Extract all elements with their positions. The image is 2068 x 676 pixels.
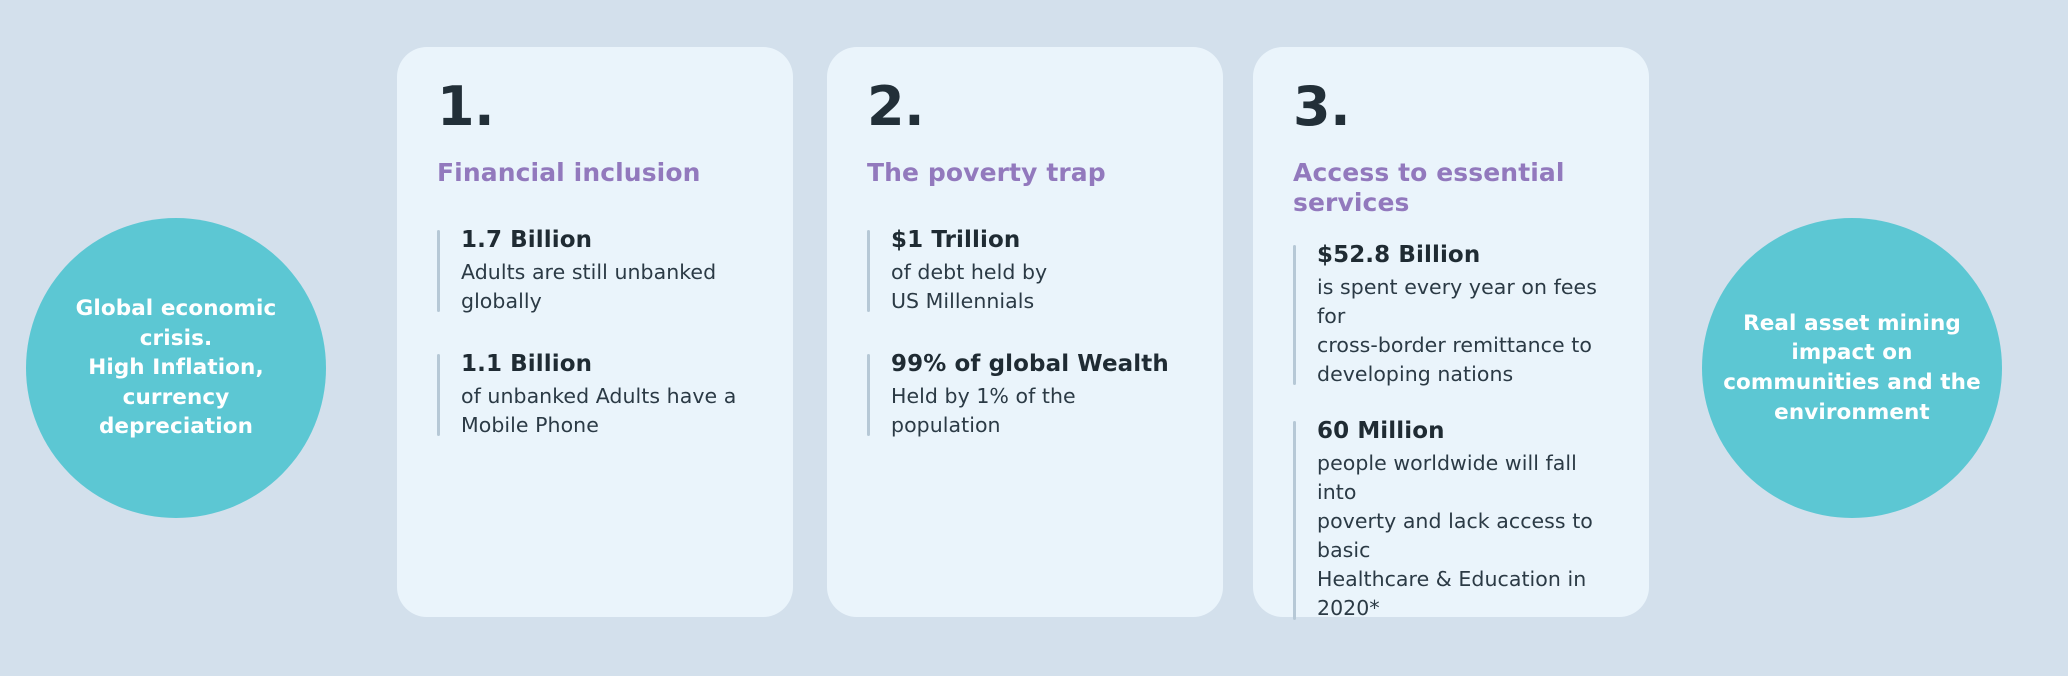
card-2-stat-1-headline: $1 Trillion xyxy=(891,226,1183,256)
stat-accent-rule-icon xyxy=(437,354,440,436)
card-2-stat-2-headline: 99% of global Wealth xyxy=(891,350,1183,380)
stat-card-3: 3. Access to essential services $52.8 Bi… xyxy=(1253,47,1649,617)
card-1-stat-2: 1.1 Billion of unbanked Adults have a Mo… xyxy=(437,350,753,440)
stat-card-2: 2. The poverty trap $1 Trillion of debt … xyxy=(827,47,1223,617)
card-2-stat-list: $1 Trillion of debt held by US Millennia… xyxy=(867,226,1183,440)
left-context-circle-text: Global economic crisis. High Inflation, … xyxy=(64,294,289,442)
card-2-stat-1-body: of debt held by US Millennials xyxy=(891,258,1183,316)
card-1-stat-list: 1.7 Billion Adults are still unbanked gl… xyxy=(437,226,753,440)
card-3-stat-2-headline: 60 Million xyxy=(1317,417,1609,447)
card-3-stat-1-body: is spent every year on fees for cross-bo… xyxy=(1317,273,1609,389)
stat-card-1: 1. Financial inclusion 1.7 Billion Adult… xyxy=(397,47,793,617)
card-3-stat-list: $52.8 Billion is spent every year on fee… xyxy=(1293,241,1609,624)
right-context-circle: Real asset mining impact on communities … xyxy=(1702,218,2002,518)
card-1-stat-1-headline: 1.7 Billion xyxy=(461,226,753,256)
card-1-stat-2-headline: 1.1 Billion xyxy=(461,350,753,380)
infographic-canvas: Global economic crisis. High Inflation, … xyxy=(0,0,2068,676)
stat-accent-rule-icon xyxy=(1293,421,1296,620)
card-2-stat-2-body: Held by 1% of the population xyxy=(891,382,1183,440)
stat-accent-rule-icon xyxy=(1293,245,1296,385)
card-3-number: 3. xyxy=(1293,79,1609,136)
card-2-title: The poverty trap xyxy=(867,158,1183,190)
card-3-stat-2: 60 Million people worldwide will fall in… xyxy=(1293,417,1609,624)
card-2-number: 2. xyxy=(867,79,1183,136)
stat-accent-rule-icon xyxy=(867,230,870,312)
stat-accent-rule-icon xyxy=(867,354,870,436)
card-3-stat-1-headline: $52.8 Billion xyxy=(1317,241,1609,271)
card-3-title: Access to essential services xyxy=(1293,158,1609,219)
left-context-circle: Global economic crisis. High Inflation, … xyxy=(26,218,326,518)
card-2-stat-1: $1 Trillion of debt held by US Millennia… xyxy=(867,226,1183,316)
right-context-circle-text: Real asset mining impact on communities … xyxy=(1711,309,1993,428)
card-3-stat-2-body: people worldwide will fall into poverty … xyxy=(1317,449,1609,624)
card-2-stat-2: 99% of global Wealth Held by 1% of the p… xyxy=(867,350,1183,440)
card-3-stat-1: $52.8 Billion is spent every year on fee… xyxy=(1293,241,1609,389)
card-1-stat-2-body: of unbanked Adults have a Mobile Phone xyxy=(461,382,753,440)
card-1-number: 1. xyxy=(437,79,753,136)
card-1-stat-1: 1.7 Billion Adults are still unbanked gl… xyxy=(437,226,753,316)
card-1-stat-1-body: Adults are still unbanked globally xyxy=(461,258,753,316)
card-1-title: Financial inclusion xyxy=(437,158,753,190)
stat-accent-rule-icon xyxy=(437,230,440,312)
